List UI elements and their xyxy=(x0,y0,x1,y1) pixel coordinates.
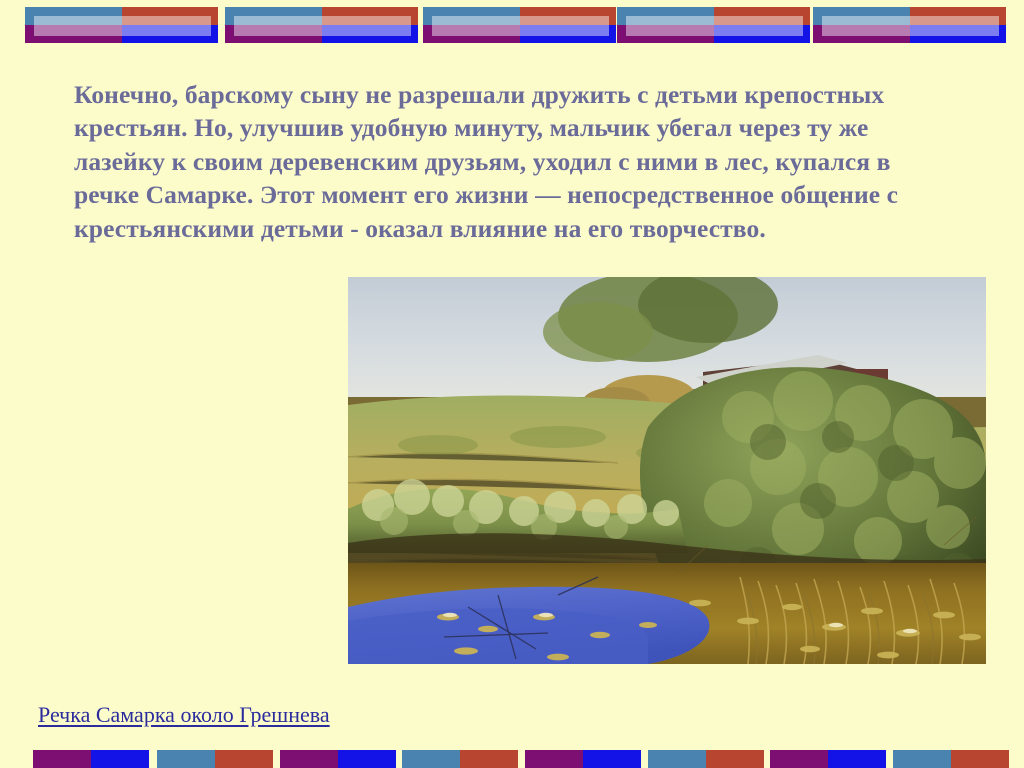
decor-bar-right xyxy=(583,750,641,768)
decor-bar xyxy=(648,750,764,768)
decor-bar-left xyxy=(525,750,583,768)
top-decorative-band xyxy=(0,0,1024,50)
decor-block xyxy=(423,7,616,43)
decor-bar xyxy=(33,750,149,768)
decor-bar-left xyxy=(770,750,828,768)
decor-bar xyxy=(280,750,396,768)
decor-bar-right xyxy=(828,750,886,768)
decor-bar-right xyxy=(706,750,764,768)
decor-bar-left xyxy=(402,750,460,768)
decor-bar-left xyxy=(157,750,215,768)
decor-bar xyxy=(402,750,518,768)
decor-overlay xyxy=(822,16,999,36)
decor-bar-left xyxy=(893,750,951,768)
slide-body-text: Конечно, барскому сыну не разрешали друж… xyxy=(74,78,954,246)
decor-overlay xyxy=(626,16,803,36)
decor-bar xyxy=(893,750,1009,768)
decor-overlay xyxy=(234,16,411,36)
decor-bar-right xyxy=(215,750,273,768)
decor-block xyxy=(25,7,218,43)
decor-bar-left xyxy=(33,750,91,768)
decor-overlay xyxy=(34,16,211,36)
slide-canvas: Конечно, барскому сыну не разрешали друж… xyxy=(0,0,1024,768)
decor-bar xyxy=(157,750,273,768)
decor-bar xyxy=(770,750,886,768)
bottom-decorative-band xyxy=(0,748,1024,768)
decor-overlay xyxy=(432,16,609,36)
decor-bar-left xyxy=(648,750,706,768)
photo-caption[interactable]: Речка Самарка около Грешнева xyxy=(38,702,330,728)
photo-illustration xyxy=(348,277,986,664)
decor-block xyxy=(225,7,418,43)
decor-bar-right xyxy=(91,750,149,768)
decor-bar xyxy=(525,750,641,768)
decor-bar-left xyxy=(280,750,338,768)
photo-river-samarka xyxy=(348,277,986,664)
decor-block xyxy=(813,7,1006,43)
decor-bar-right xyxy=(338,750,396,768)
decor-bar-right xyxy=(951,750,1009,768)
decor-block xyxy=(617,7,810,43)
decor-bar-right xyxy=(460,750,518,768)
